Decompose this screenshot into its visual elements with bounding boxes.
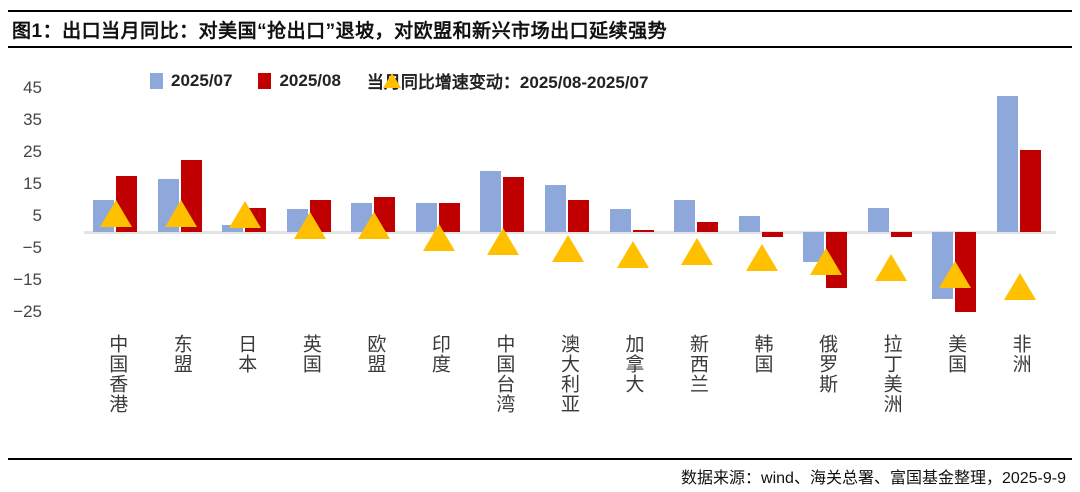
bar-group[interactable] <box>471 78 536 328</box>
x-axis-label: 新西兰 <box>665 334 730 452</box>
x-axis-label: 加拿大 <box>600 334 665 452</box>
bar-group[interactable] <box>600 78 665 328</box>
bar-2025-07[interactable] <box>545 185 566 231</box>
x-axis-label-text: 韩国 <box>752 334 772 452</box>
x-axis-label-text: 新西兰 <box>687 334 707 452</box>
bar-2025-08[interactable] <box>891 232 912 237</box>
x-axis-label: 韩国 <box>729 334 794 452</box>
plot-area: 453525155−5−15−25 <box>84 78 1052 328</box>
x-axis-label-text: 美国 <box>945 334 965 452</box>
delta-triangle-marker[interactable] <box>294 212 326 239</box>
x-axis-label: 英国 <box>278 334 343 452</box>
bar-group[interactable] <box>342 78 407 328</box>
x-axis-label-text: 俄罗斯 <box>816 334 836 452</box>
x-axis-label-text: 加拿大 <box>623 334 643 452</box>
x-axis-label-text: 拉丁美洲 <box>881 334 901 452</box>
delta-triangle-marker[interactable] <box>229 201 261 228</box>
bar-group[interactable] <box>84 78 149 328</box>
bar-2025-07[interactable] <box>480 171 501 232</box>
x-axis-label-text: 中国香港 <box>106 334 126 452</box>
x-axis-label: 中国香港 <box>84 334 149 452</box>
x-axis-label: 印度 <box>407 334 472 452</box>
figure-container: 图1：出口当月同比：对美国“抢出口”退坡，对欧盟和新兴市场出口延续强势 2025… <box>0 0 1080 492</box>
x-axis-label-text: 日本 <box>235 334 255 452</box>
bar-2025-08[interactable] <box>1020 150 1041 232</box>
x-axis-label-text: 英国 <box>300 334 320 452</box>
delta-triangle-marker[interactable] <box>681 238 713 265</box>
bar-group[interactable] <box>729 78 794 328</box>
bar-group[interactable] <box>149 78 214 328</box>
bar-2025-07[interactable] <box>739 216 760 232</box>
y-axis-tick-label: −25 <box>0 302 42 322</box>
x-axis-label: 澳大利亚 <box>536 334 601 452</box>
bar-2025-08[interactable] <box>697 222 718 232</box>
footer-divider <box>8 458 1072 460</box>
y-axis-tick-label: −15 <box>0 270 42 290</box>
bar-2025-08[interactable] <box>762 232 783 237</box>
x-axis-label: 拉丁美洲 <box>858 334 923 452</box>
bar-groups <box>84 78 1052 328</box>
delta-triangle-marker[interactable] <box>810 248 842 275</box>
delta-triangle-marker[interactable] <box>617 241 649 268</box>
x-axis-label-text: 欧盟 <box>364 334 384 452</box>
bar-group[interactable] <box>794 78 859 328</box>
x-axis-label: 非洲 <box>987 334 1052 452</box>
delta-triangle-marker[interactable] <box>875 254 907 281</box>
y-axis-tick-label: 45 <box>0 78 42 98</box>
bar-2025-08[interactable] <box>568 200 589 232</box>
x-axis-label-text: 印度 <box>429 334 449 452</box>
bar-2025-07[interactable] <box>868 208 889 232</box>
bar-group[interactable] <box>536 78 601 328</box>
bar-group[interactable] <box>858 78 923 328</box>
delta-triangle-marker[interactable] <box>487 228 519 255</box>
delta-triangle-marker[interactable] <box>358 212 390 239</box>
x-axis-label-text: 东盟 <box>171 334 191 452</box>
bar-2025-08[interactable] <box>503 177 524 231</box>
delta-triangle-marker[interactable] <box>165 200 197 227</box>
x-axis-label: 东盟 <box>149 334 214 452</box>
delta-triangle-marker[interactable] <box>100 200 132 227</box>
delta-triangle-marker[interactable] <box>746 244 778 271</box>
bar-group[interactable] <box>987 78 1052 328</box>
x-axis-label-text: 中国台湾 <box>493 334 513 452</box>
x-axis-label-text: 非洲 <box>1010 334 1030 452</box>
bar-group[interactable] <box>665 78 730 328</box>
y-axis-tick-label: −5 <box>0 238 42 258</box>
bar-2025-07[interactable] <box>610 209 631 231</box>
x-axis-labels: 中国香港东盟日本英国欧盟印度中国台湾澳大利亚加拿大新西兰韩国俄罗斯拉丁美洲美国非… <box>84 334 1052 452</box>
bar-2025-07[interactable] <box>997 96 1018 232</box>
delta-triangle-marker[interactable] <box>423 224 455 251</box>
bar-group[interactable] <box>923 78 988 328</box>
bar-group[interactable] <box>407 78 472 328</box>
x-axis-label: 中国台湾 <box>471 334 536 452</box>
bar-2025-07[interactable] <box>674 200 695 232</box>
bar-group[interactable] <box>213 78 278 328</box>
page-title: 图1：出口当月同比：对美国“抢出口”退坡，对欧盟和新兴市场出口延续强势 <box>8 16 667 43</box>
delta-triangle-marker[interactable] <box>1004 273 1036 300</box>
delta-triangle-marker[interactable] <box>939 261 971 288</box>
bar-group[interactable] <box>278 78 343 328</box>
y-axis-tick-label: 35 <box>0 110 42 130</box>
source-note: 数据来源：wind、海关总署、富国基金整理，2025-9-9 <box>681 464 1066 488</box>
delta-triangle-marker[interactable] <box>552 235 584 262</box>
figure-title-bar: 图1：出口当月同比：对美国“抢出口”退坡，对欧盟和新兴市场出口延续强势 <box>8 10 1072 48</box>
x-axis-label-text: 澳大利亚 <box>558 334 578 452</box>
x-axis-label: 日本 <box>213 334 278 452</box>
x-axis-label: 欧盟 <box>342 334 407 452</box>
x-axis-label: 美国 <box>923 334 988 452</box>
y-axis-tick-label: 25 <box>0 142 42 162</box>
bar-2025-08[interactable] <box>633 230 654 232</box>
x-axis-label: 俄罗斯 <box>794 334 859 452</box>
y-axis-tick-label: 5 <box>0 206 42 226</box>
y-axis-tick-label: 15 <box>0 174 42 194</box>
